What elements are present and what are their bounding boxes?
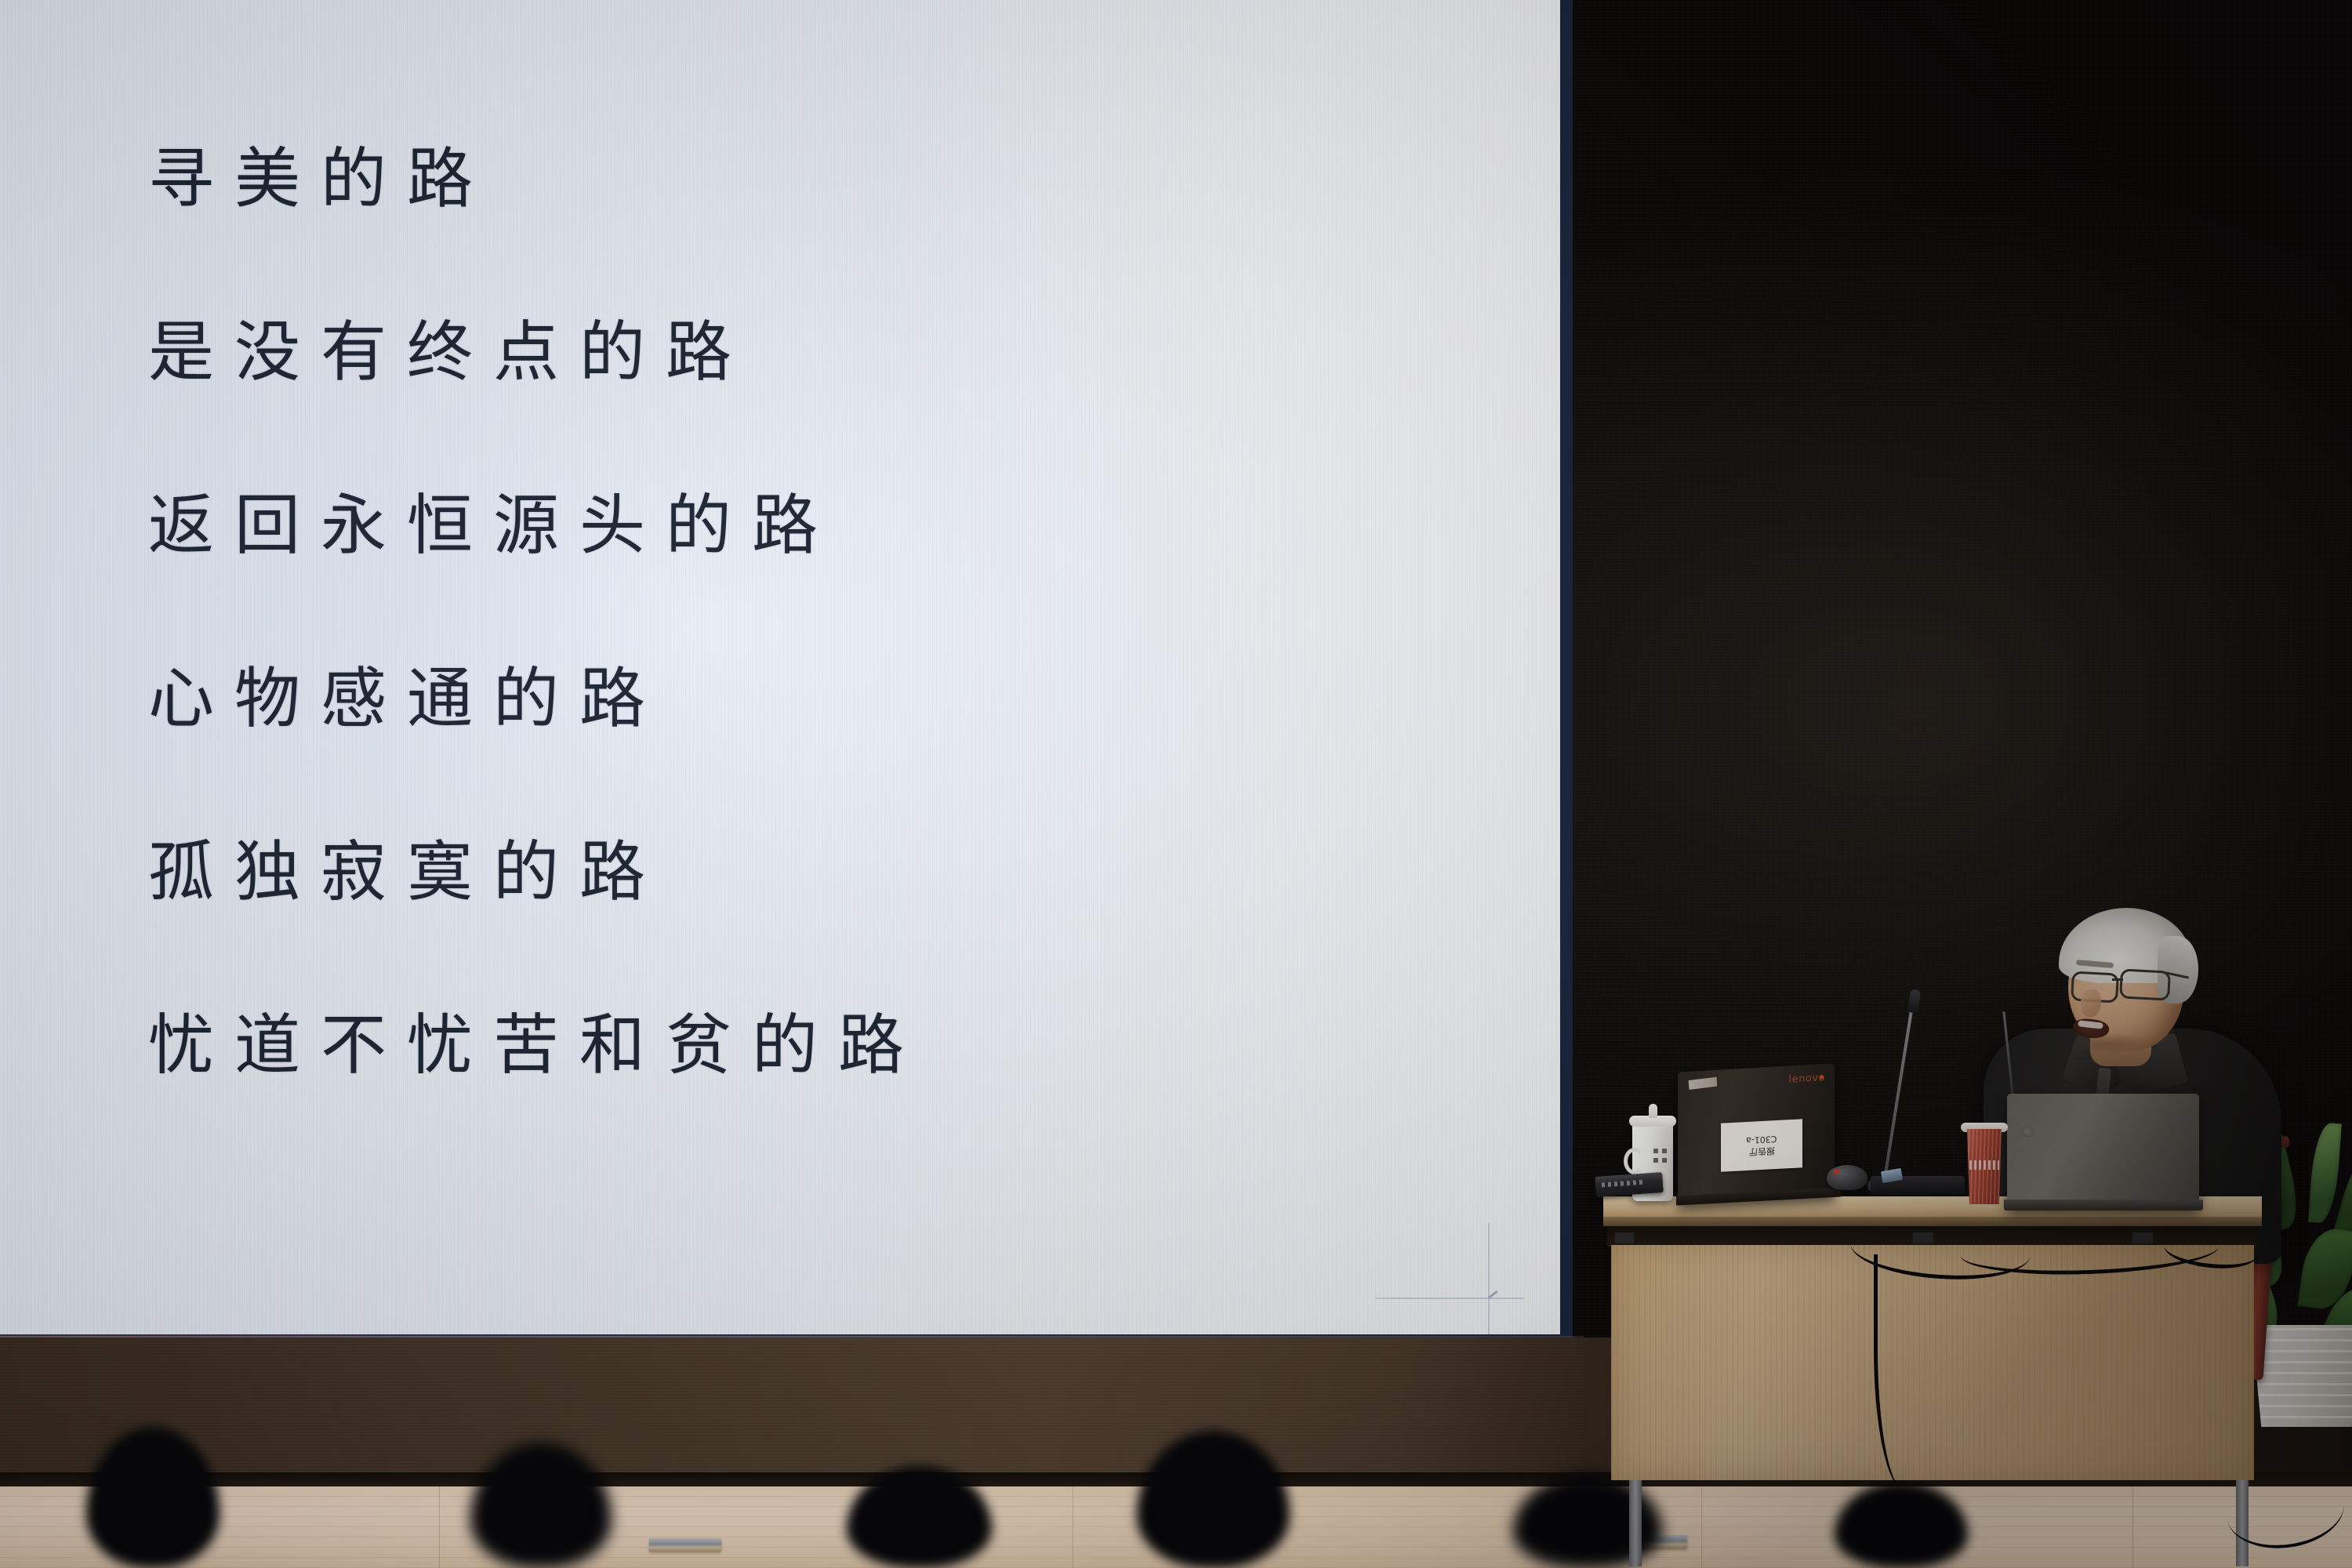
desk-bracket xyxy=(1615,1232,1634,1243)
speaker-chin-shadow xyxy=(2068,1033,2154,1054)
mug-spout xyxy=(1649,1104,1657,1118)
slide-line-2: 是没有终点的路 xyxy=(148,319,1481,385)
thinkpad-badge-icon xyxy=(1689,1077,1718,1090)
cup-brand-print xyxy=(1969,1160,1999,1170)
floor-outlet-plate xyxy=(649,1538,721,1552)
slide-line-4: 心物感通的路 xyxy=(148,666,1481,731)
red-paper-coffee-cup[interactable] xyxy=(1965,1129,2004,1204)
computer-mouse[interactable] xyxy=(1827,1165,1867,1190)
wainscot-panel xyxy=(0,1338,1584,1479)
mug-handle xyxy=(1624,1148,1646,1174)
desk-front-panel xyxy=(1611,1245,2254,1480)
projection-screen-frame: 寻美的路 是没有终点的路 返回永恒源头的路 心物感通的路 孤独寂寞的路 忧道不忧… xyxy=(0,0,1573,1339)
asset-tag-line-2: 报告厅 xyxy=(1749,1146,1775,1156)
asset-tag-line-1: C301-a xyxy=(1746,1134,1777,1145)
slide-line-1: 寻美的路 xyxy=(148,146,1481,212)
slide-line-3: 返回永恒源头的路 xyxy=(148,492,1481,558)
mug-print-icon xyxy=(1653,1149,1668,1166)
desk-leg xyxy=(1629,1480,1642,1566)
slide-line-5: 孤独寂寞的路 xyxy=(148,839,1481,905)
asset-tag-label: C301-a 报告厅 xyxy=(1721,1119,1802,1171)
grey-laptop-base[interactable] xyxy=(2004,1200,2203,1210)
grey-laptop-lid[interactable] xyxy=(2007,1094,2199,1210)
registration-crosshair-icon xyxy=(1450,1259,1528,1334)
slide-text-block: 寻美的路 是没有终点的路 返回永恒源头的路 心物感通的路 孤独寂寞的路 忧道不忧… xyxy=(148,146,1481,1078)
projection-screen: 寻美的路 是没有终点的路 返回永恒源头的路 心物感通的路 孤独寂寞的路 忧道不忧… xyxy=(0,0,1560,1334)
slide-line-6: 忧道不忧苦和贫的路 xyxy=(148,1012,1481,1078)
screenshot-root: 寻美的路 是没有终点的路 返回永恒源头的路 心物感通的路 孤独寂寞的路 忧道不忧… xyxy=(0,0,2352,1568)
